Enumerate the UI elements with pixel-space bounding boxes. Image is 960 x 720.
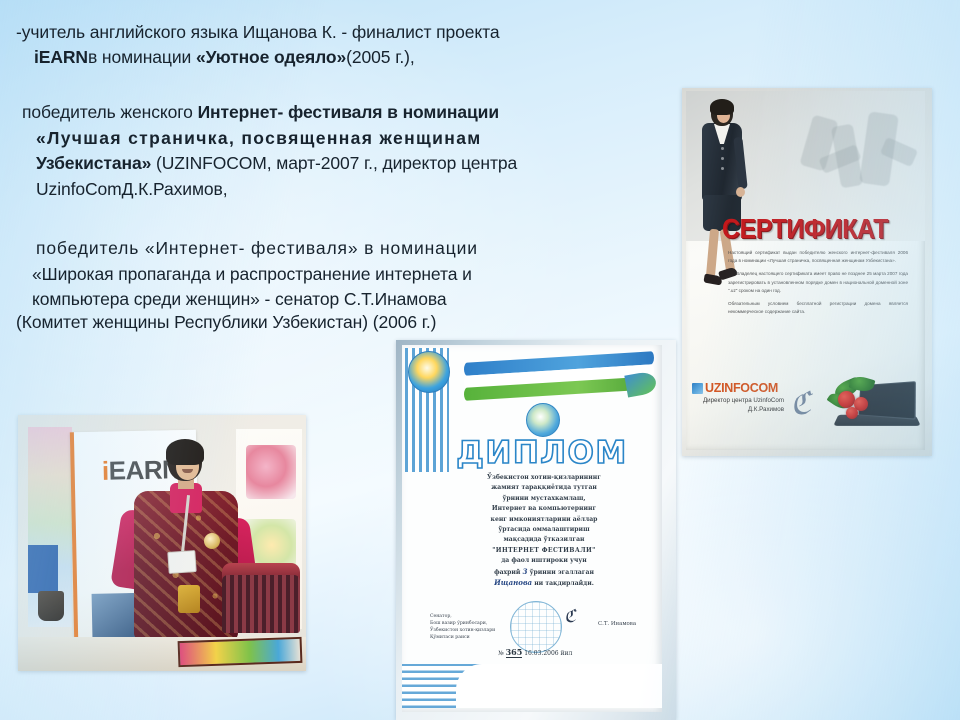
diploma-date: 16.03.2006 йил (524, 650, 572, 657)
paragraph3-line2: «Широкая пропаганда и распространение ин… (24, 262, 682, 288)
diploma-rank-prefix: фахрий (494, 569, 520, 576)
paragraph4-line1: (Комитет женщины Республики Узбекистан) … (16, 310, 676, 335)
certificate-signer-name: Д.К.Рахимов (692, 405, 784, 414)
diploma-line-6: ўртасида оммалаштириш (454, 525, 634, 535)
paragraph1-year: (2005 г.), (346, 47, 414, 67)
diploma-bottom-mask (456, 664, 662, 708)
festival-seal-icon (526, 403, 560, 437)
diploma-line-3: ўрнини мустахкамлаш, (454, 494, 634, 504)
figure-button (721, 167, 724, 170)
uzinfocom-logo-mark-icon (692, 383, 703, 394)
committee-stamp-icon (510, 601, 562, 653)
paragraph1-line2-mid: в номинации (88, 47, 196, 67)
paragraph1-line1: -учитель английского языка Ищанова К. - … (16, 20, 682, 45)
uzbekistan-flag-ribbon-icon (464, 357, 654, 399)
laptop-roses-graphic (828, 381, 920, 433)
photo-plant-pot (38, 591, 64, 621)
paragraph2-line3: Узбекистана» (UZINFOCOM, март-2007 г., д… (22, 151, 682, 177)
certificate-signature-icon: ℭ (788, 386, 813, 423)
rose-shape (846, 407, 858, 419)
photo-blue-panel (28, 545, 58, 593)
certificate-title: СЕРТИФИКАТ (722, 213, 888, 245)
diploma-line-11: Ищанова ни тақдирлайди. (454, 578, 634, 589)
iearn-label: iEARN (34, 47, 88, 67)
paragraph2-line1-plain: победитель женского (22, 102, 198, 122)
paragraph2-line1: победитель женского Интернет- фестиваля … (22, 100, 682, 126)
diploma-number-label: № (498, 650, 504, 657)
diploma-signer-line-2: Бош вазир ўринбосари, (430, 620, 520, 627)
diploma-signer-line-4: Қўмитаси раиси (430, 634, 520, 641)
photo-childrens-drawing (246, 445, 296, 499)
uzbekistan-emblem-icon (408, 351, 450, 393)
conference-badge (167, 550, 196, 574)
diploma-line-1: Ўзбекистон хотин-қизларининг (454, 473, 634, 483)
diploma-body-text: Ўзбекистон хотин-қизларининг жамият тара… (454, 473, 634, 589)
paragraph1-line2: iEARNв номинации «Уютное одеяло»(2005 г.… (16, 45, 682, 70)
diploma-number-block: № 365 16.03.2006 йил (498, 647, 572, 657)
nomination-cozy-blanket: «Уютное одеяло» (196, 47, 346, 67)
figure-button (721, 147, 724, 150)
diploma-signer-line-1: Сенатор, (430, 613, 520, 620)
figure-hand (736, 187, 745, 197)
slide-canvas: -учитель английского языка Ищанова К. - … (0, 0, 960, 720)
paragraph2-line2: «Лучшая страничка, посвященная женщинам (22, 126, 682, 152)
diploma-line-5: кенг имкониятларини аёллар (454, 515, 634, 525)
diploma-festival-name: "ИНТЕРНЕТ ФЕСТИВАЛИ" (454, 546, 634, 556)
certificate-backing: СЕРТИФИКАТ Настоящий сертификат выдан по… (682, 88, 932, 456)
certificate-body-text: Настоящий сертификат выдан победителю же… (728, 249, 908, 321)
diploma-signer-block: Сенатор, Бош вазир ўринбосари, Ўзбекисто… (430, 613, 520, 641)
certificate-paragraph-1: Настоящий сертификат выдан победителю же… (728, 249, 908, 265)
paragraph-senator-nomination: победитель «Интернет- фестиваля» в номин… (24, 236, 682, 313)
certificate-signer: Директор центра UzinfoCom Д.К.Рахимов (692, 396, 784, 414)
photo-display-basket (222, 575, 300, 633)
diploma-signature-icon: ℭ (563, 606, 577, 627)
diploma-line-7: мақсадида ўтказилган (454, 535, 634, 545)
paragraph3-line1: победитель «Интернет- фестиваля» в номин… (24, 236, 682, 262)
diploma-number-value: 365 (506, 647, 523, 658)
certificate-image: СЕРТИФИКАТ Настоящий сертификат выдан по… (682, 88, 932, 456)
diploma-title: ДИПЛОМ (434, 435, 650, 471)
uzbekistan-word: Узбекистана» (36, 153, 151, 173)
photo-colorful-craft-item (178, 637, 303, 667)
diploma-rank-suffix: ўринни эгаллаган (530, 569, 594, 576)
rose-shape (838, 391, 855, 408)
nomination-best-page: «Лучшая страничка, посвященная женщинам (36, 128, 482, 148)
figure-button (721, 157, 724, 160)
diploma-line-4: Интернет ва компьютернинг (454, 504, 634, 514)
diploma-line-2: жамият тараққиётида тутган (454, 483, 634, 493)
paragraph3-line3: компьютера среди женщин» - сенатор С.Т.И… (24, 287, 682, 313)
paragraph-uzinfocom-winner: победитель женского Интернет- фестиваля … (22, 100, 682, 202)
diploma-award-suffix: ни тақдирлайди. (534, 580, 594, 587)
paragraph-iearn-finalist: -учитель английского языка Ищанова К. - … (16, 20, 682, 70)
figure-hair (166, 439, 204, 465)
diploma-signature-name: С.Т. Инамова (598, 621, 636, 627)
embroidered-pouch (178, 585, 200, 613)
certificate-paragraph-3: Обязательным условием бесплатной регистр… (728, 300, 908, 316)
necklace-medallion (204, 533, 220, 549)
uzinfocom-logo-text: UZINFOCOM (705, 381, 778, 395)
diploma-line-10: фахрий 3 ўринни эгаллаган (454, 567, 634, 578)
paragraph2-line1-bold: Интернет- фестиваля в номинации (198, 102, 499, 122)
certificate-paragraph-2: Владелец настоящего сертификата имеет пр… (728, 270, 908, 295)
iearn-booth-photo: iEARN ينمسدان والتقنية www.iearn.org (18, 415, 306, 671)
diploma-signer-line-3: Ўзбекистон хотин-қизлари (430, 627, 520, 634)
diploma-paper: ДИПЛОМ Ўзбекистон хотин-қизларининг жами… (402, 345, 662, 712)
diploma-rank-value: 3 (523, 567, 528, 576)
paragraph-committee: (Комитет женщины Республики Узбекистан) … (16, 310, 676, 335)
diploma-recipient-name: Ищанова (494, 578, 532, 587)
figure-hair (710, 99, 734, 115)
diploma-folder: ДИПЛОМ Ўзбекистон хотин-қизларининг жами… (396, 340, 676, 720)
diploma-line-9: да фаол иштироки учун (454, 556, 634, 566)
paragraph2-line3-plain: (UZINFOCOM, март-2007 г., директор центр… (151, 153, 517, 173)
diploma-image: ДИПЛОМ Ўзбекистон хотин-қизларининг жами… (396, 340, 676, 720)
certificate-paper: СЕРТИФИКАТ Настоящий сертификат выдан по… (686, 91, 925, 450)
paragraph2-line4: UzinfoComД.К.Рахимов, (22, 177, 682, 203)
uzinfocom-logo: UZINFOCOM (692, 381, 778, 395)
certificate-signer-role: Директор центра UzinfoCom (692, 396, 784, 405)
